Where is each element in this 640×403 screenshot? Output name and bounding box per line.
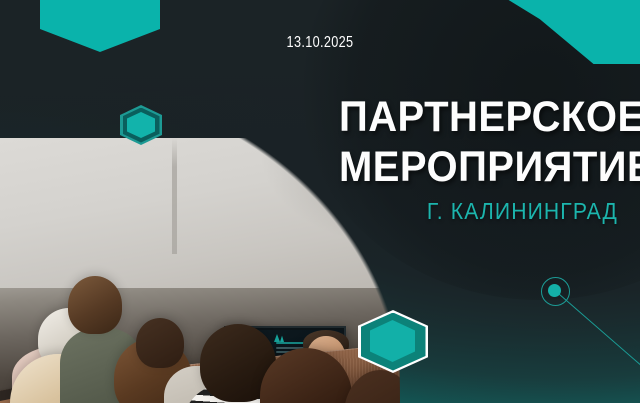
photo-audience-head — [68, 276, 122, 334]
headline-block: ПАРТНЕРСКОЕ МЕРОПРИЯТИЕ Г. КАЛИНИНГРАД — [318, 92, 618, 224]
event-city-label: Г. КАЛИНИНГРАД — [342, 198, 618, 224]
dot-core-icon — [548, 284, 561, 297]
page-title-line-1: ПАРТНЕРСКОЕ — [339, 92, 618, 142]
photo-wall-seam — [172, 138, 177, 254]
photo-audience-head — [136, 318, 184, 368]
event-banner: 13.10.2025 ПАРТНЕРСКОЕ МЕРОПРИЯТИЕ Г. КА… — [0, 0, 640, 403]
date-badge-label: 13.10.2025 — [58, 34, 583, 52]
page-title-line-2: МЕРОПРИЯТИЕ — [339, 142, 618, 192]
